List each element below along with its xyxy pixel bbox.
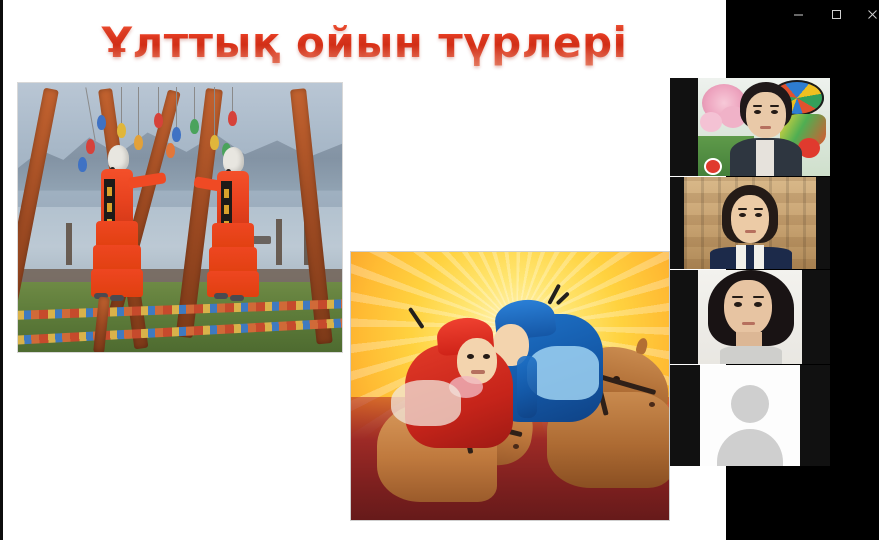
participant-tile-2[interactable] [670, 177, 830, 269]
tile-1-brow [770, 105, 779, 107]
blue-rider-highlight [527, 346, 599, 400]
tassel [172, 127, 181, 142]
participant-tile-3[interactable] [670, 270, 830, 364]
tassel [190, 119, 199, 134]
tile-1-brow [753, 105, 762, 107]
tassel-line [176, 87, 177, 129]
participant-tile-4[interactable] [670, 365, 830, 466]
red-rider-mouth [471, 370, 485, 374]
tile-3-mouth [742, 322, 755, 325]
tile-1-blossom [700, 112, 722, 132]
tile-1-eye [771, 110, 778, 114]
red-rider-eye [483, 354, 490, 359]
horse-left-nostril [513, 444, 519, 449]
tile-2-face [731, 195, 769, 243]
close-icon[interactable] [859, 4, 879, 24]
participant-video-rail [670, 78, 830, 466]
tile-2-brow [754, 208, 763, 210]
tassel-line [232, 87, 233, 113]
tassel-line [121, 87, 122, 125]
tile-1-ball [704, 158, 722, 175]
horse-right-nostril [649, 402, 655, 407]
tile-2-eye [739, 213, 746, 217]
tassel [210, 135, 219, 150]
tassel [166, 143, 175, 158]
shared-screen-slide: Ұлттық ойын түрлері [3, 0, 726, 540]
red-rider-eye [467, 354, 474, 359]
tassel [228, 111, 237, 126]
tassel-line [194, 87, 195, 121]
photo-post [276, 219, 282, 265]
meeting-window: Ұлттық ойын түрлері [0, 0, 879, 540]
tassel-line [158, 87, 159, 115]
tile-3-eye [754, 302, 762, 307]
tassel [78, 157, 87, 172]
tile-3-brow [753, 296, 764, 298]
tile-1-face [746, 92, 786, 138]
photo-pier [18, 269, 342, 282]
tile-3-face [724, 280, 772, 336]
tile-1-eye [754, 110, 761, 114]
tassel-line [138, 87, 139, 137]
tile-1-shirt [756, 140, 774, 176]
blue-rider-braid [517, 356, 537, 418]
tassel [97, 115, 106, 130]
slide-title: Ұлттық ойын түрлері [3, 18, 726, 67]
tassel [117, 123, 126, 138]
minimize-icon[interactable] [785, 4, 811, 24]
tassel [86, 139, 95, 154]
tile-1-mouth [760, 126, 771, 129]
participant-tile-1[interactable] [670, 78, 830, 176]
red-rider-sleeve-trim [391, 380, 461, 426]
tile-3-brow [732, 296, 743, 298]
tassel [134, 135, 143, 150]
tile-2-eye [755, 213, 762, 217]
tassel-line [214, 87, 215, 137]
photo-post [66, 223, 72, 265]
tile-2-tie [746, 245, 754, 269]
slide-image-kyz-kuu-painting [351, 252, 669, 520]
tile-3-eye [734, 302, 742, 307]
tile-2-mouth [745, 230, 756, 233]
tile-2-brow [738, 208, 747, 210]
window-titlebar [726, 0, 879, 28]
avatar-head-icon [731, 385, 769, 423]
tassel [154, 113, 163, 128]
window-left-border [0, 0, 3, 540]
restore-icon[interactable] [823, 4, 849, 24]
slide-image-altybakan-swing-photo [18, 83, 342, 352]
tile-3-top [720, 346, 782, 364]
